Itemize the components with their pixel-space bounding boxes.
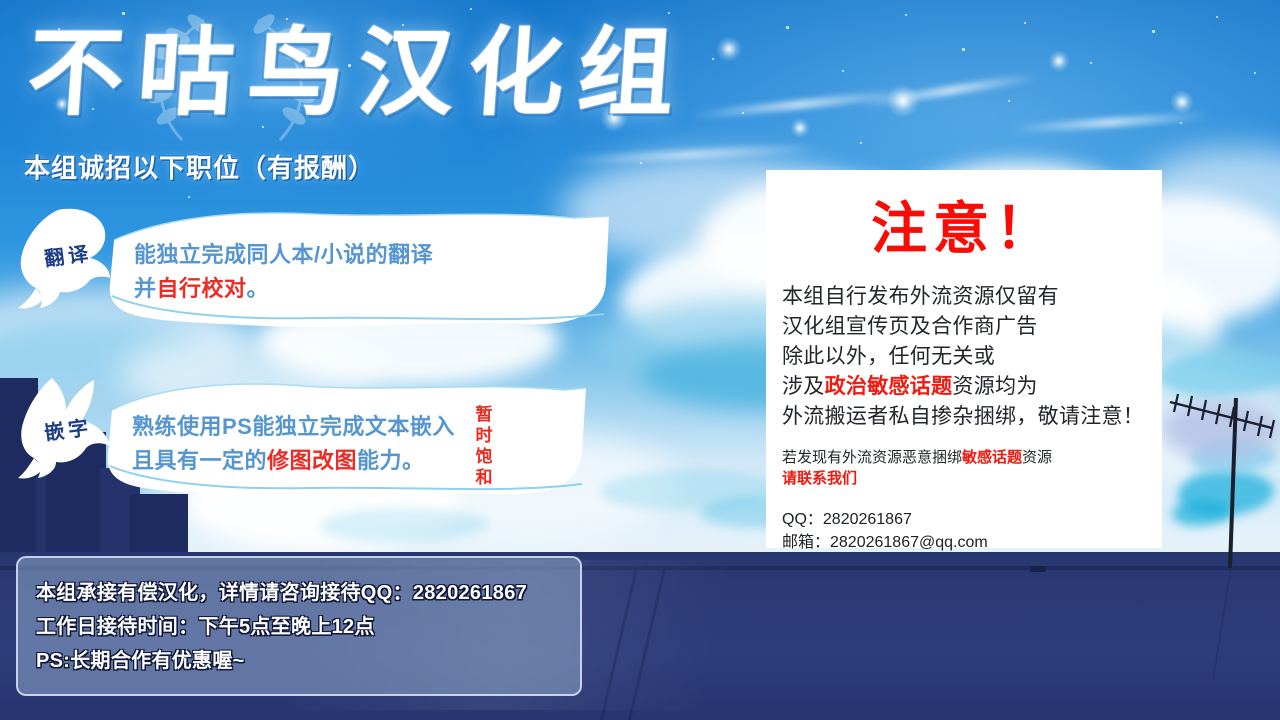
service-info-line: 工作日接待时间：下午5点至晚上12点 [36, 610, 375, 639]
recruit-subtitle: 本组诚招以下职位（有报酬） [24, 148, 375, 185]
notice-line: 涉及政治敏感话题资源均为 [782, 372, 1154, 402]
position-line-2: 且具有一定的修图改图能力。 [132, 444, 425, 478]
contact-email: 邮箱：2820261867@qq.com [782, 531, 1154, 554]
position-line-2-pre: 并 [134, 276, 157, 301]
position-line-1: 熟练使用PS能独立完成文本嵌入 [132, 410, 455, 444]
notice-sub: 若发现有外流资源恶意捆绑敏感话题资源 请联系我们 [782, 447, 1154, 489]
notice-sub-line: 若发现有外流资源恶意捆绑敏感话题资源 [782, 447, 1154, 468]
position-line-1-text: 熟练使用PS能独立完成文本嵌入 [132, 414, 455, 439]
service-info-box: 本组承接有偿汉化，详情请咨询接待QQ：2820261867 工作日接待时间：下午… [16, 556, 582, 696]
service-info-line: 本组承接有偿汉化，详情请咨询接待QQ：2820261867 [36, 576, 527, 605]
tv-antenna-icon [1168, 392, 1280, 568]
dove-icon-translate: 翻译 [18, 206, 118, 311]
notice-line: 外流搬运者私自掺杂捆绑，敬请注意！ [782, 402, 1154, 432]
position-line-2-post: 能力。 [357, 448, 425, 473]
notice-contact: QQ：2820261867 邮箱：2820261867@qq.com [782, 508, 1154, 554]
position-line-1: 能独立完成同人本/小说的翻译 [134, 238, 433, 272]
position-status-note: 暂时饱和 [474, 404, 494, 488]
rooftop-seam [628, 568, 666, 720]
position-banner-typeset: 熟练使用PS能独立完成文本嵌入 且具有一定的修图改图能力。 暂时饱和 [104, 378, 590, 504]
page-title: 不咕鸟汉化组 [24, 14, 752, 132]
position-banner-translate: 能独立完成同人本/小说的翻译 并自行校对。 [104, 204, 614, 334]
notice-panel: 注意！ 本组自行发布外流资源仅留有 汉化组宣传页及合作商广告 除此以外，任何无关… [766, 170, 1162, 548]
notice-line: 除此以外，任何无关或 [782, 342, 1154, 372]
dove-icon-typeset: 嵌字 [18, 376, 118, 481]
notice-body: 本组自行发布外流资源仅留有 汉化组宣传页及合作商广告 除此以外，任何无关或 涉及… [782, 282, 1154, 432]
service-info-line: PS:长期合作有优惠喔~ [36, 644, 245, 673]
position-line-2-post: 。 [247, 276, 270, 301]
rooftop-seam [1212, 568, 1232, 680]
contact-us-link[interactable]: 请联系我们 [782, 468, 1154, 489]
position-line-2-red: 修图改图 [267, 448, 357, 473]
position-line-2: 并自行校对。 [134, 272, 269, 306]
poster-canvas: 不咕鸟汉化组 本组诚招以下职位（有报酬） 能独立完成同人本/小说的翻译 并自行校… [0, 0, 1280, 720]
position-line-2-pre: 且具有一定的 [132, 448, 267, 473]
position-line-2-red: 自行校对 [157, 276, 247, 301]
notice-line: 汉化组宣传页及合作商广告 [782, 312, 1154, 342]
notice-line: 本组自行发布外流资源仅留有 [782, 282, 1154, 312]
rooftop-vent [1030, 566, 1046, 572]
position-line-1-text: 能独立完成同人本/小说的翻译 [134, 242, 433, 267]
rooftop-seam [600, 568, 638, 720]
contact-qq: QQ：2820261867 [782, 508, 1154, 531]
notice-title: 注意！ [766, 184, 1162, 265]
